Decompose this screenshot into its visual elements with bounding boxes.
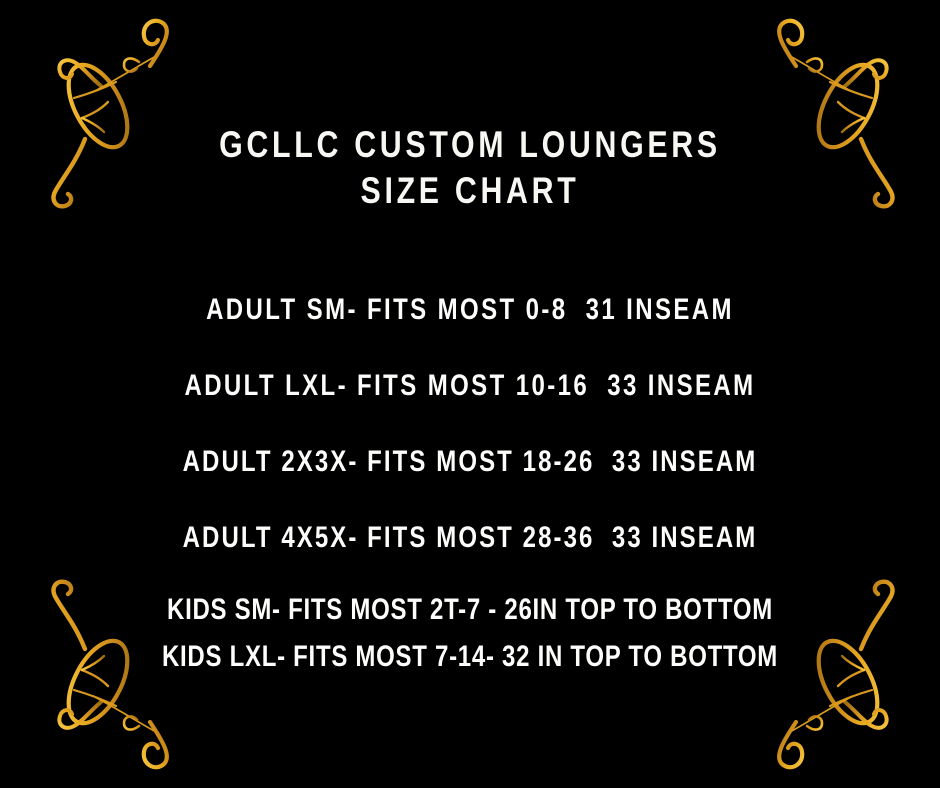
size-row-kids-lxl: KIDS LXL- FITS MOST 7-14- 32 IN TOP TO B…: [94, 633, 846, 680]
size-row-adult-4x5x: ADULT 4X5X- FITS MOST 28-36 33 INSEAM: [94, 500, 846, 576]
size-chart-poster: GCLLC CUSTOM LOUNGERS SIZE CHART ADULT S…: [0, 0, 940, 788]
size-row-kids-sm: KIDS SM- FITS MOST 2T-7 - 26IN TOP TO BO…: [94, 586, 846, 633]
size-row-adult-sm: ADULT SM- FITS MOST 0-8 31 INSEAM: [94, 272, 846, 348]
page-title-line-2: SIZE CHART: [85, 168, 856, 214]
page-title-line-1: GCLLC CUSTOM LOUNGERS: [85, 122, 856, 168]
size-row-adult-2x3x: ADULT 2X3X- FITS MOST 18-26 33 INSEAM: [94, 424, 846, 500]
size-group-kids: KIDS SM- FITS MOST 2T-7 - 26IN TOP TO BO…: [0, 586, 940, 680]
size-list: ADULT SM- FITS MOST 0-8 31 INSEAM ADULT …: [0, 272, 940, 680]
page-title: GCLLC CUSTOM LOUNGERS SIZE CHART: [85, 122, 856, 214]
size-row-adult-lxl: ADULT LXL- FITS MOST 10-16 33 INSEAM: [94, 348, 846, 424]
